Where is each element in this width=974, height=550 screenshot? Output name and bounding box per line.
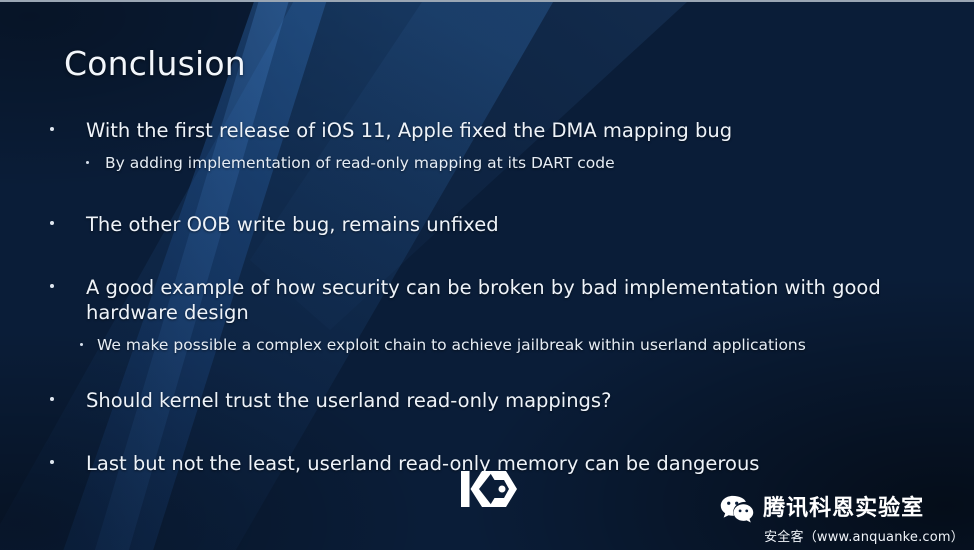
presentation-slide: Conclusion With the first release of iOS… [0,0,974,550]
bullet-marker-icon [50,397,54,401]
bullet-item-level1: The other OOB write bug, remains unfixed [0,212,974,237]
bullet-item-level1: A good example of how security can be br… [0,275,974,325]
bullet-marker-icon [50,284,54,288]
spacer [0,174,974,212]
sub-bullet-text: By adding implementation of read-only ma… [105,154,615,172]
keen-lab-logo [458,466,520,512]
spacer [0,143,974,153]
bullet-text: The other OOB write bug, remains unfixed [86,213,499,236]
bullet-text: Should kernel trust the userland read-on… [86,389,611,412]
bullet-block-3: A good example of how security can be br… [0,275,974,356]
sub-bullet-text: We make possible a complex exploit chain… [97,336,806,354]
watermark-title-row: 腾讯科恩实验室 [720,494,924,524]
bullet-marker-icon [50,460,54,464]
spacer [0,356,974,388]
sub-bullet-marker-icon [86,161,89,164]
watermark-subtitle: 安全客（www.anquanke.com） [764,531,964,544]
anquanke-watermark: 腾讯科恩实验室 安全客（www.anquanke.com） [720,494,964,544]
sub-bullet-marker-icon [80,343,83,346]
bullet-block-4: Should kernel trust the userland read-on… [0,388,974,413]
bullet-item-level2: We make possible a complex exploit chain… [0,335,974,356]
bullet-block-2: The other OOB write bug, remains unfixed [0,212,974,237]
bullet-marker-icon [50,127,54,131]
slide-top-border [0,0,974,2]
slide-title: Conclusion [64,44,246,83]
bullet-item-level2: By adding implementation of read-only ma… [0,153,974,174]
bullet-item-level1: With the first release of iOS 11, Apple … [0,118,974,143]
spacer [0,237,974,275]
wechat-icon [720,494,754,524]
bullet-text: Last but not the least, userland read-on… [86,452,759,475]
bullet-marker-icon [50,221,54,225]
bullet-text: A good example of how security can be br… [86,276,881,324]
bullet-list: With the first release of iOS 11, Apple … [0,118,974,476]
bullet-item-level1: Should kernel trust the userland read-on… [0,388,974,413]
spacer [0,325,974,335]
bullet-text: With the first release of iOS 11, Apple … [86,119,732,142]
bullet-block-1: With the first release of iOS 11, Apple … [0,118,974,174]
watermark-title: 腾讯科恩实验室 [763,498,924,520]
spacer [0,413,974,451]
